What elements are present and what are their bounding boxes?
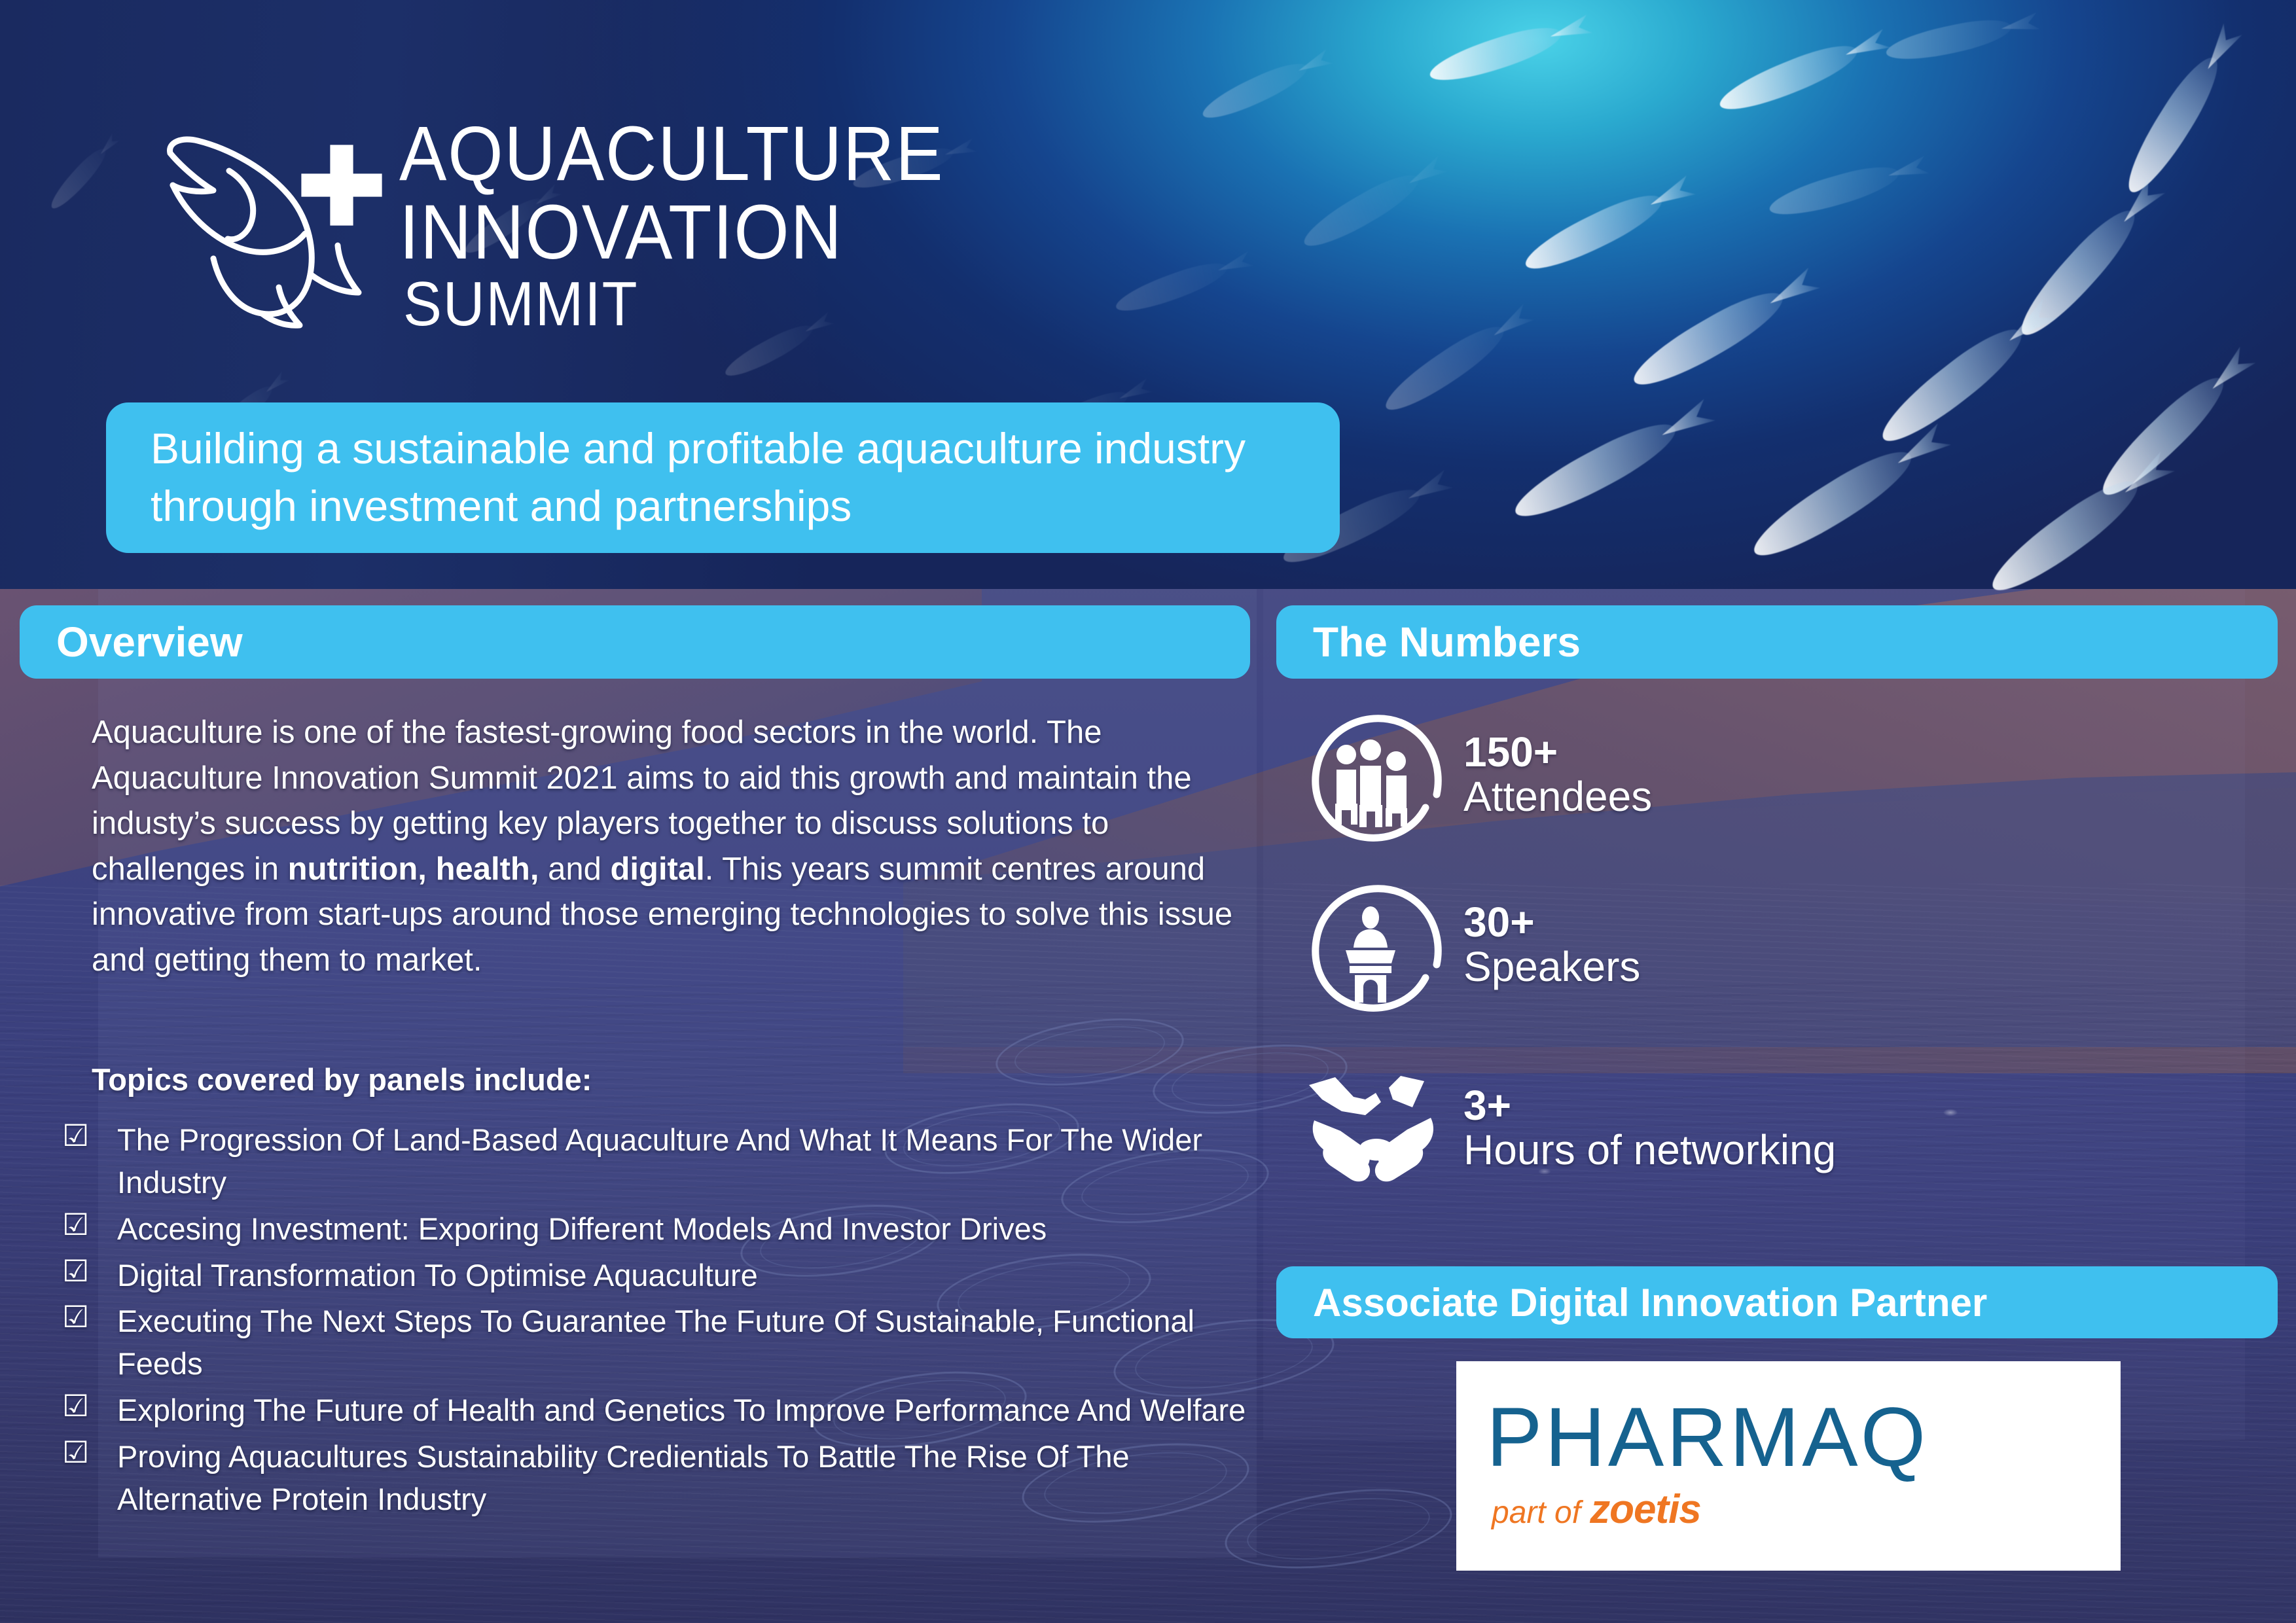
- logo-line-2: INNOVATION: [399, 193, 944, 272]
- stat-attendees-text: 150+ Attendees: [1463, 731, 1652, 821]
- topic-label: Digital Transformation To Optimise Aquac…: [117, 1258, 758, 1293]
- stat-attendees: 150+ Attendees: [1302, 707, 1652, 844]
- zoetis-wordmark: zoetis: [1590, 1486, 1701, 1533]
- medical-cross-icon: [298, 142, 385, 228]
- overview-and: and: [539, 851, 610, 887]
- speaker-at-lectern-in-circle-icon: [1302, 877, 1452, 1014]
- stat-networking-label: Hours of networking: [1463, 1127, 1836, 1174]
- overview-heading: Overview: [56, 618, 243, 666]
- zoetis-tagline: part of zoetis: [1492, 1486, 2121, 1533]
- topic-label: Proving Aquacultures Sustainability Cred…: [117, 1439, 1130, 1516]
- checked-checkbox-icon: ☑: [62, 1209, 89, 1240]
- overview-paragraph: Aquaculture is one of the fastest-growin…: [92, 710, 1244, 983]
- overview-bold-health: health,: [436, 851, 539, 887]
- checked-checkbox-icon: ☑: [62, 1120, 89, 1150]
- stat-attendees-value: 150+: [1463, 731, 1652, 774]
- checked-checkbox-icon: ☑: [62, 1391, 89, 1421]
- pharmaq-partner-logo[interactable]: PHARMAQ part of zoetis: [1456, 1361, 2121, 1571]
- topics-list: ☑The Progression Of Land-Based Aquacultu…: [62, 1119, 1260, 1525]
- section-header-partner: Associate Digital Innovation Partner: [1276, 1266, 2278, 1338]
- pharmaq-wordmark: PHARMAQ: [1486, 1398, 2121, 1478]
- tagline-banner: Building a sustainable and profitable aq…: [106, 402, 1340, 553]
- topics-heading: Topics covered by panels include:: [92, 1061, 592, 1097]
- stat-networking-text: 3+ Hours of networking: [1463, 1084, 1836, 1174]
- section-header-numbers: The Numbers: [1276, 605, 2278, 679]
- topic-list-item: ☑Executing The Next Steps To Guarantee T…: [62, 1300, 1260, 1385]
- stat-speakers-text: 30+ Speakers: [1463, 901, 1640, 991]
- zoetis-part-of-text: part of: [1492, 1495, 1581, 1531]
- stat-speakers-label: Speakers: [1463, 944, 1640, 991]
- summit-logo: AQUACULTURE INNOVATION SUMMIT: [151, 115, 992, 336]
- logo-line-3: SUMMIT: [403, 272, 944, 336]
- topic-label: Exploring The Future of Health and Genet…: [117, 1393, 1246, 1427]
- section-header-overview: Overview: [20, 605, 1250, 679]
- overview-body: Aquaculture is one of the fastest-growin…: [92, 710, 1244, 983]
- topic-list-item: ☑Accesing Investment: Exporing Different…: [62, 1208, 1260, 1251]
- checked-checkbox-icon: ☑: [62, 1302, 89, 1332]
- topic-label: Executing The Next Steps To Guarantee Th…: [117, 1304, 1194, 1381]
- checked-checkbox-icon: ☑: [62, 1256, 89, 1286]
- topic-label: Accesing Investment: Exporing Different …: [117, 1211, 1047, 1246]
- stat-speakers-value: 30+: [1463, 901, 1640, 944]
- topic-list-item: ☑Proving Aquacultures Sustainability Cre…: [62, 1436, 1260, 1521]
- numbers-heading: The Numbers: [1313, 618, 1581, 666]
- topic-list-item: ☑Digital Transformation To Optimise Aqua…: [62, 1255, 1260, 1297]
- topic-list-item: ☑Exploring The Future of Health and Gene…: [62, 1389, 1260, 1432]
- overview-space-1: [427, 851, 436, 887]
- topic-list-item: ☑The Progression Of Land-Based Aquacultu…: [62, 1119, 1260, 1204]
- stat-attendees-label: Attendees: [1463, 774, 1652, 821]
- group-of-people-in-circle-icon: [1302, 707, 1452, 844]
- tagline-text: Building a sustainable and profitable aq…: [151, 420, 1295, 535]
- topic-label: The Progression Of Land-Based Aquacultur…: [117, 1122, 1202, 1200]
- poster-root: AQUACULTURE INNOVATION SUMMIT Building a…: [0, 0, 2296, 1623]
- stat-networking: 3+ Hours of networking: [1302, 1060, 1836, 1198]
- stat-networking-value: 3+: [1463, 1084, 1836, 1127]
- overview-bold-digital: digital: [610, 851, 704, 887]
- logo-line-1: AQUACULTURE: [399, 115, 944, 193]
- overview-bold-nutrition: nutrition,: [288, 851, 427, 887]
- fish-and-medical-cross-logo-icon: [151, 117, 386, 333]
- stat-speakers: 30+ Speakers: [1302, 877, 1640, 1014]
- partner-heading: Associate Digital Innovation Partner: [1313, 1280, 1987, 1325]
- handshake-icon: [1302, 1060, 1452, 1198]
- checked-checkbox-icon: ☑: [62, 1437, 89, 1467]
